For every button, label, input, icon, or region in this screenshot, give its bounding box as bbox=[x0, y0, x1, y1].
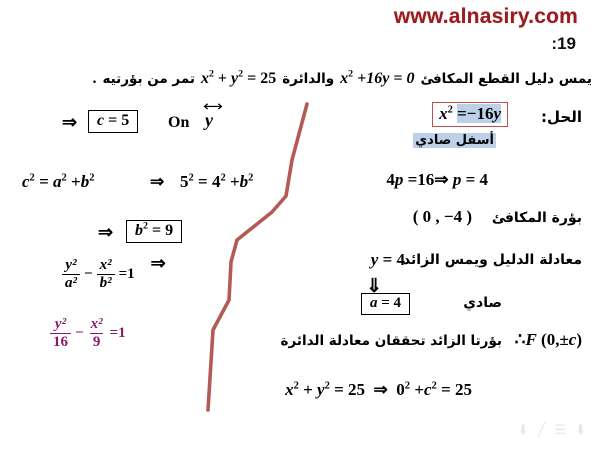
frac-denominator-2: b² bbox=[97, 274, 115, 291]
double-arrow-icon bbox=[200, 102, 226, 110]
statement-parabola-equation: x2 +16y = 0 bbox=[340, 70, 414, 88]
directrix-label: معادلة الدليل ويمس الزائد bbox=[403, 252, 582, 268]
circle-substitution-equation: x2 + y2 = 25 ⇒ 02 +c2 = 25 bbox=[285, 380, 472, 400]
boxed-b-value: b2 = 9 bbox=[126, 220, 182, 243]
axis-variable: y bbox=[205, 110, 213, 130]
fraction-minus-1: − bbox=[84, 266, 93, 283]
final-fraction-x-over-9: x² 9 bbox=[88, 317, 106, 350]
final-fraction-y-over-16: y² 16 bbox=[50, 317, 71, 350]
media-toolbar[interactable]: ⬇ ╱ ☰ ⬇ bbox=[518, 423, 586, 438]
boxed-c-equation: c = 5 bbox=[97, 112, 129, 129]
download-icon[interactable]: ⬇ bbox=[575, 423, 586, 438]
fraction-y-over-a: y² a² bbox=[62, 258, 80, 291]
axis-variable-group: y bbox=[202, 110, 216, 131]
page-icon[interactable]: ☰ bbox=[554, 423, 566, 438]
pen-icon[interactable]: ╱ bbox=[538, 423, 546, 438]
final-frac-denominator-1: 16 bbox=[50, 333, 71, 350]
directrix-equation: y = 4 bbox=[371, 250, 405, 270]
hyperbola-final-equation: y² 16 − x² 9 =1 bbox=[48, 315, 126, 350]
fraction-equals-1: =1 bbox=[119, 266, 135, 283]
axis-direction-note: أسفل صادي bbox=[413, 133, 496, 148]
frac-numerator-1: y² bbox=[62, 258, 79, 274]
boxed-parabola-standard: x2 =−16y bbox=[432, 102, 508, 127]
statement-period: . bbox=[92, 70, 96, 88]
site-watermark: www.alnasiry.com bbox=[394, 5, 578, 29]
implies-arrow-b: ⇒ bbox=[98, 222, 113, 243]
slide-page: www.alnasiry.com :19 يمس دليل القطع المك… bbox=[0, 0, 600, 450]
question-number: :19 bbox=[551, 34, 576, 54]
boxed-c-value: c = 5 bbox=[88, 110, 138, 133]
statement-text-right: يمس دليل القطع المكافئ bbox=[420, 71, 592, 87]
statement-circle-equation: x2 + y2 = 25 bbox=[201, 70, 276, 88]
frac-numerator-2: x² bbox=[97, 258, 115, 274]
final-fraction-equals: =1 bbox=[110, 325, 126, 342]
statement-text-left: تمر من بؤرتيه bbox=[102, 71, 195, 87]
step-4p-equation: 4p =16⇒ p = 4 bbox=[386, 170, 488, 190]
fraction-x-over-b: x² b² bbox=[97, 258, 115, 291]
boxed-parabola-equation: x2 =−16y bbox=[439, 104, 501, 123]
pythagoras-identity: c2 = a2 +b2 bbox=[22, 172, 94, 192]
problem-statement: يمس دليل القطع المكافئ x2 +16y = 0 والدا… bbox=[8, 64, 592, 94]
implies-arrow-hyperbola: ⇒ bbox=[151, 253, 166, 273]
boxed-b-equation: b2 = 9 bbox=[135, 222, 173, 239]
axis-name-label: صادي bbox=[463, 295, 502, 311]
on-axis-label: On bbox=[168, 114, 189, 132]
final-fraction-minus: − bbox=[75, 325, 84, 342]
implies-arrow-pyth: ⇒ bbox=[150, 172, 164, 192]
hyperbola-general-equation: y² a² − x² b² =1 ⇒ bbox=[60, 253, 166, 291]
boxed-a-value: a = 4 bbox=[361, 293, 410, 315]
solution-label: الحل: bbox=[541, 108, 582, 126]
statement-text-mid: والدائرة bbox=[282, 71, 334, 87]
save-icon[interactable]: ⬇ bbox=[518, 423, 529, 438]
foci-condition-label: بؤرتا الزائد تحققان معادلة الدائرة bbox=[281, 333, 502, 349]
frac-denominator-1: a² bbox=[62, 274, 80, 291]
boxed-a-equation: a = 4 bbox=[370, 295, 401, 311]
focus-point: ( 0 , −4 ) bbox=[413, 207, 472, 227]
final-frac-numerator-1: y² bbox=[52, 317, 69, 333]
implies-arrow-c: ⇒ bbox=[62, 112, 77, 133]
focus-label: بؤرة المكافئ bbox=[492, 210, 582, 226]
final-frac-denominator-2: 9 bbox=[90, 333, 104, 350]
final-frac-numerator-2: x² bbox=[88, 317, 106, 333]
pythagoras-substituted: 52 = 42 +b2 bbox=[180, 172, 253, 192]
foci-expression: ∴F (0,±c) bbox=[515, 330, 582, 350]
